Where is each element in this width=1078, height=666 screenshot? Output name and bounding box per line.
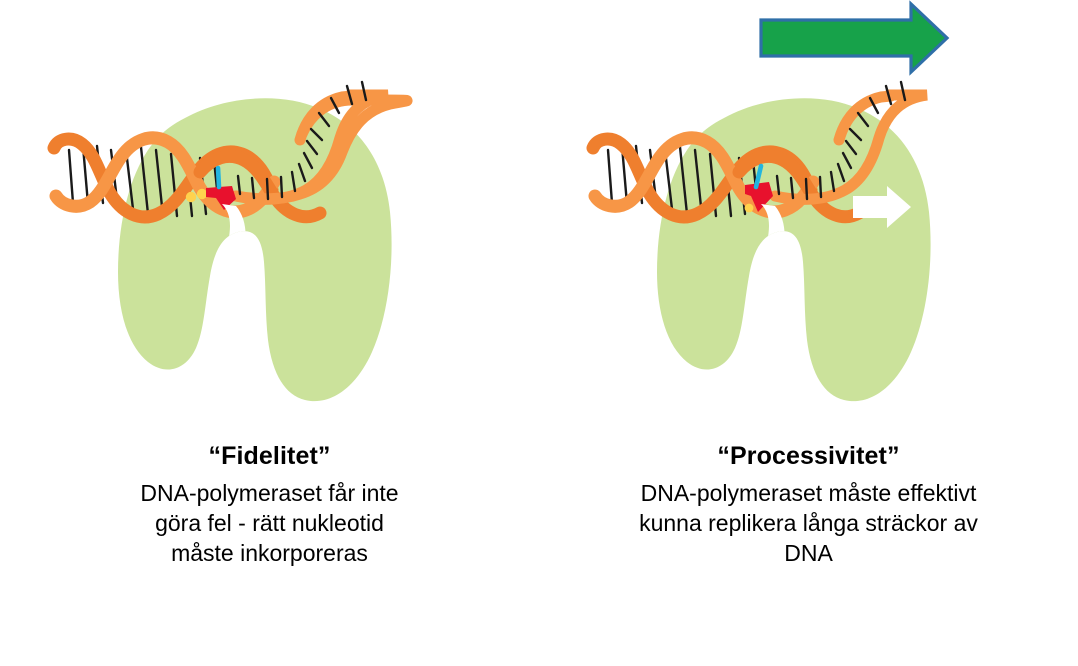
caption-processivity: “Processivitet” DNA-polymeraset måste ef… xyxy=(539,440,1078,569)
caption-title-fidelity: “Fidelitet” xyxy=(18,440,521,473)
caption-line: DNA xyxy=(557,538,1060,568)
motion-arrow xyxy=(761,4,947,72)
active-site-cyan-bar xyxy=(218,168,219,187)
slide-root: “Fidelitet” DNA-polymeraset får inte gör… xyxy=(0,0,1078,666)
caption-line: kunna replikera långa sträckor av xyxy=(557,508,1060,538)
caption-line: måste inkorporeras xyxy=(18,538,521,568)
active-site-yellow-dot-1 xyxy=(745,204,754,213)
panel-processivity: “Processivitet” DNA-polymeraset måste ef… xyxy=(539,0,1078,666)
active-site-yellow-dot-2 xyxy=(197,189,207,199)
figure-processivity xyxy=(539,0,1078,430)
motion-arrow-shape xyxy=(761,4,947,72)
caption-body-fidelity: DNA-polymeraset får inte göra fel - rätt… xyxy=(18,478,521,569)
caption-line: DNA-polymeraset måste effektivt xyxy=(557,478,1060,508)
caption-line: DNA-polymeraset får inte xyxy=(18,478,521,508)
caption-body-processivity: DNA-polymeraset måste effektivt kunna re… xyxy=(557,478,1060,569)
panel-container: “Fidelitet” DNA-polymeraset får inte gör… xyxy=(0,0,1078,666)
panel-fidelity: “Fidelitet” DNA-polymeraset får inte gör… xyxy=(0,0,539,666)
caption-fidelity: “Fidelitet” DNA-polymeraset får inte gör… xyxy=(0,440,539,569)
figure-fidelity xyxy=(0,0,539,430)
caption-line: göra fel - rätt nukleotid xyxy=(18,508,521,538)
active-site-yellow-dot-1 xyxy=(186,192,196,202)
caption-title-processivity: “Processivitet” xyxy=(557,440,1060,473)
